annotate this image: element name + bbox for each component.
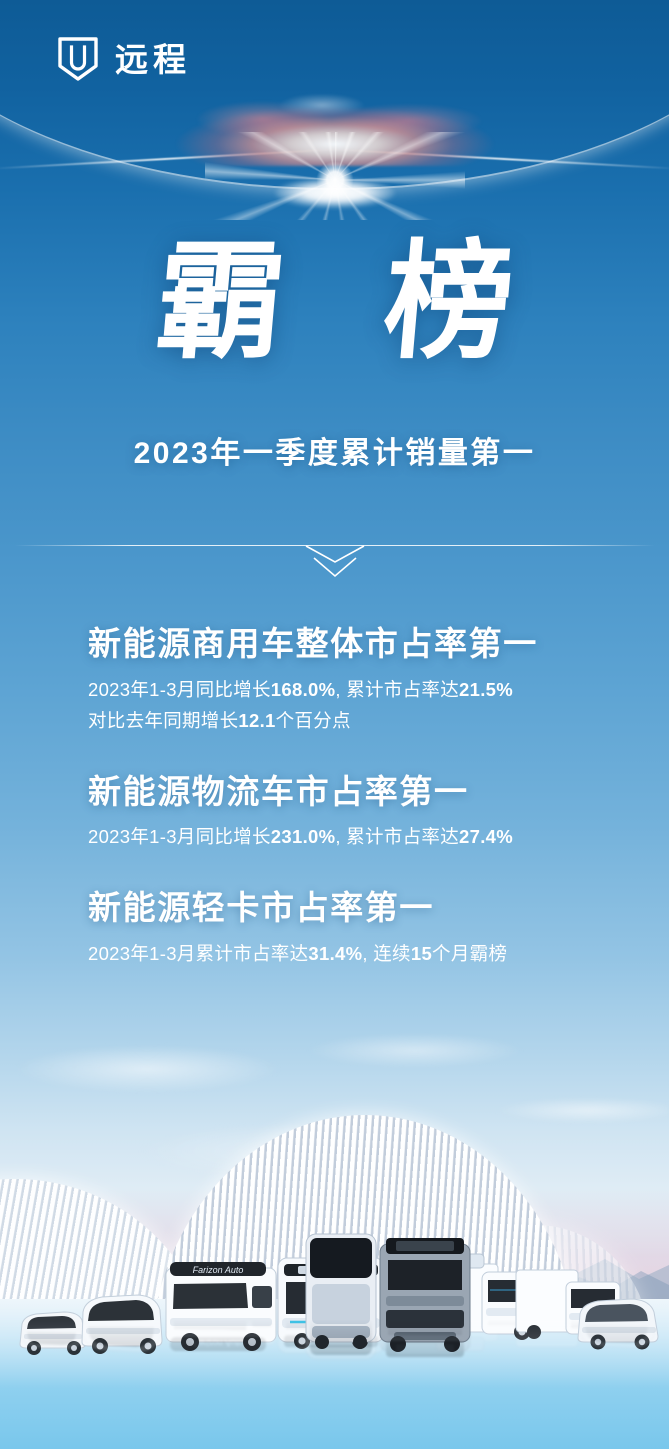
brand-name: 远程	[115, 43, 191, 76]
stat-text: 2023年1-3月累计市占率达	[88, 943, 308, 964]
stat-heading: 新能源物流车市占率第一	[88, 770, 628, 814]
electric-coach	[300, 1230, 382, 1363]
page-subtitle: 2023年一季度累计销量第一	[0, 428, 669, 472]
vehicle-reflection	[300, 1319, 382, 1363]
page-title: 霸 榜	[0, 228, 669, 379]
vehicle-reflection: Farizon Auto	[160, 1319, 282, 1363]
stat-value: 21.5%	[459, 679, 513, 700]
vehicle-reflection	[372, 1319, 478, 1363]
brand-logo: 远程	[57, 36, 191, 82]
stat-value: 31.4%	[308, 943, 362, 964]
stat-value: 27.4%	[459, 826, 513, 847]
electric-van	[76, 1284, 168, 1363]
chevron-down-icon	[304, 545, 366, 584]
stat-heading: 新能源商用车整体市占率第一	[88, 622, 628, 666]
stat-text: , 连续	[362, 943, 410, 964]
sun-core-icon	[275, 178, 395, 208]
motorhome-brand-label: Farizon Auto	[193, 1338, 244, 1348]
stat-text: 个月霸榜	[432, 943, 507, 964]
section-divider	[0, 520, 669, 570]
stat-text: , 累计市占率达	[335, 826, 459, 847]
heavy-electric-tractor	[372, 1232, 478, 1363]
stat-value: 12.1	[238, 710, 275, 731]
electric-minivan	[574, 1284, 664, 1363]
vehicle-lineup: Farizon Auto Farizon Auto	[0, 1233, 669, 1363]
vehicle-reflection	[76, 1319, 168, 1363]
stat-block: 新能源商用车整体市占率第一2023年1-3月同比增长168.0%, 累计市占率达…	[88, 622, 628, 736]
stat-heading: 新能源轻卡市占率第一	[88, 886, 628, 930]
stat-detail-line: 对比去年同期增长12.1个百分点	[88, 705, 628, 736]
stat-value: 231.0%	[271, 826, 336, 847]
stat-value: 168.0%	[271, 679, 336, 700]
electric-motorhome: Farizon Auto Farizon Auto	[160, 1250, 282, 1363]
motorhome-brand-label: Farizon Auto	[193, 1265, 244, 1275]
stat-text: 个百分点	[276, 710, 351, 731]
promo-poster: 远程 霸 榜 2023年一季度累计销量第一 新能源商用车整体市占率第一2023年…	[0, 0, 669, 1449]
stat-text: 对比去年同期增长	[88, 710, 238, 731]
stat-block: 新能源物流车市占率第一2023年1-3月同比增长231.0%, 累计市占率达27…	[88, 770, 628, 853]
stat-detail-line: 2023年1-3月同比增长231.0%, 累计市占率达27.4%	[88, 821, 628, 852]
statistics-section: 新能源商用车整体市占率第一2023年1-3月同比增长168.0%, 累计市占率达…	[88, 622, 628, 969]
stat-detail-line: 2023年1-3月累计市占率达31.4%, 连续15个月霸榜	[88, 938, 628, 969]
stat-value: 15	[411, 943, 432, 964]
vehicle-reflection	[574, 1319, 664, 1363]
sunrise-graphic	[0, 60, 669, 220]
stat-text: , 累计市占率达	[335, 679, 459, 700]
stat-text: 2023年1-3月同比增长	[88, 679, 271, 700]
stat-block: 新能源轻卡市占率第一2023年1-3月累计市占率达31.4%, 连续15个月霸榜	[88, 886, 628, 969]
scenery-graphic: Farizon Auto Farizon Auto	[0, 1000, 669, 1449]
shield-u-icon	[57, 36, 99, 82]
stat-text: 2023年1-3月同比增长	[88, 826, 271, 847]
stat-detail-line: 2023年1-3月同比增长168.0%, 累计市占率达21.5%	[88, 674, 628, 705]
